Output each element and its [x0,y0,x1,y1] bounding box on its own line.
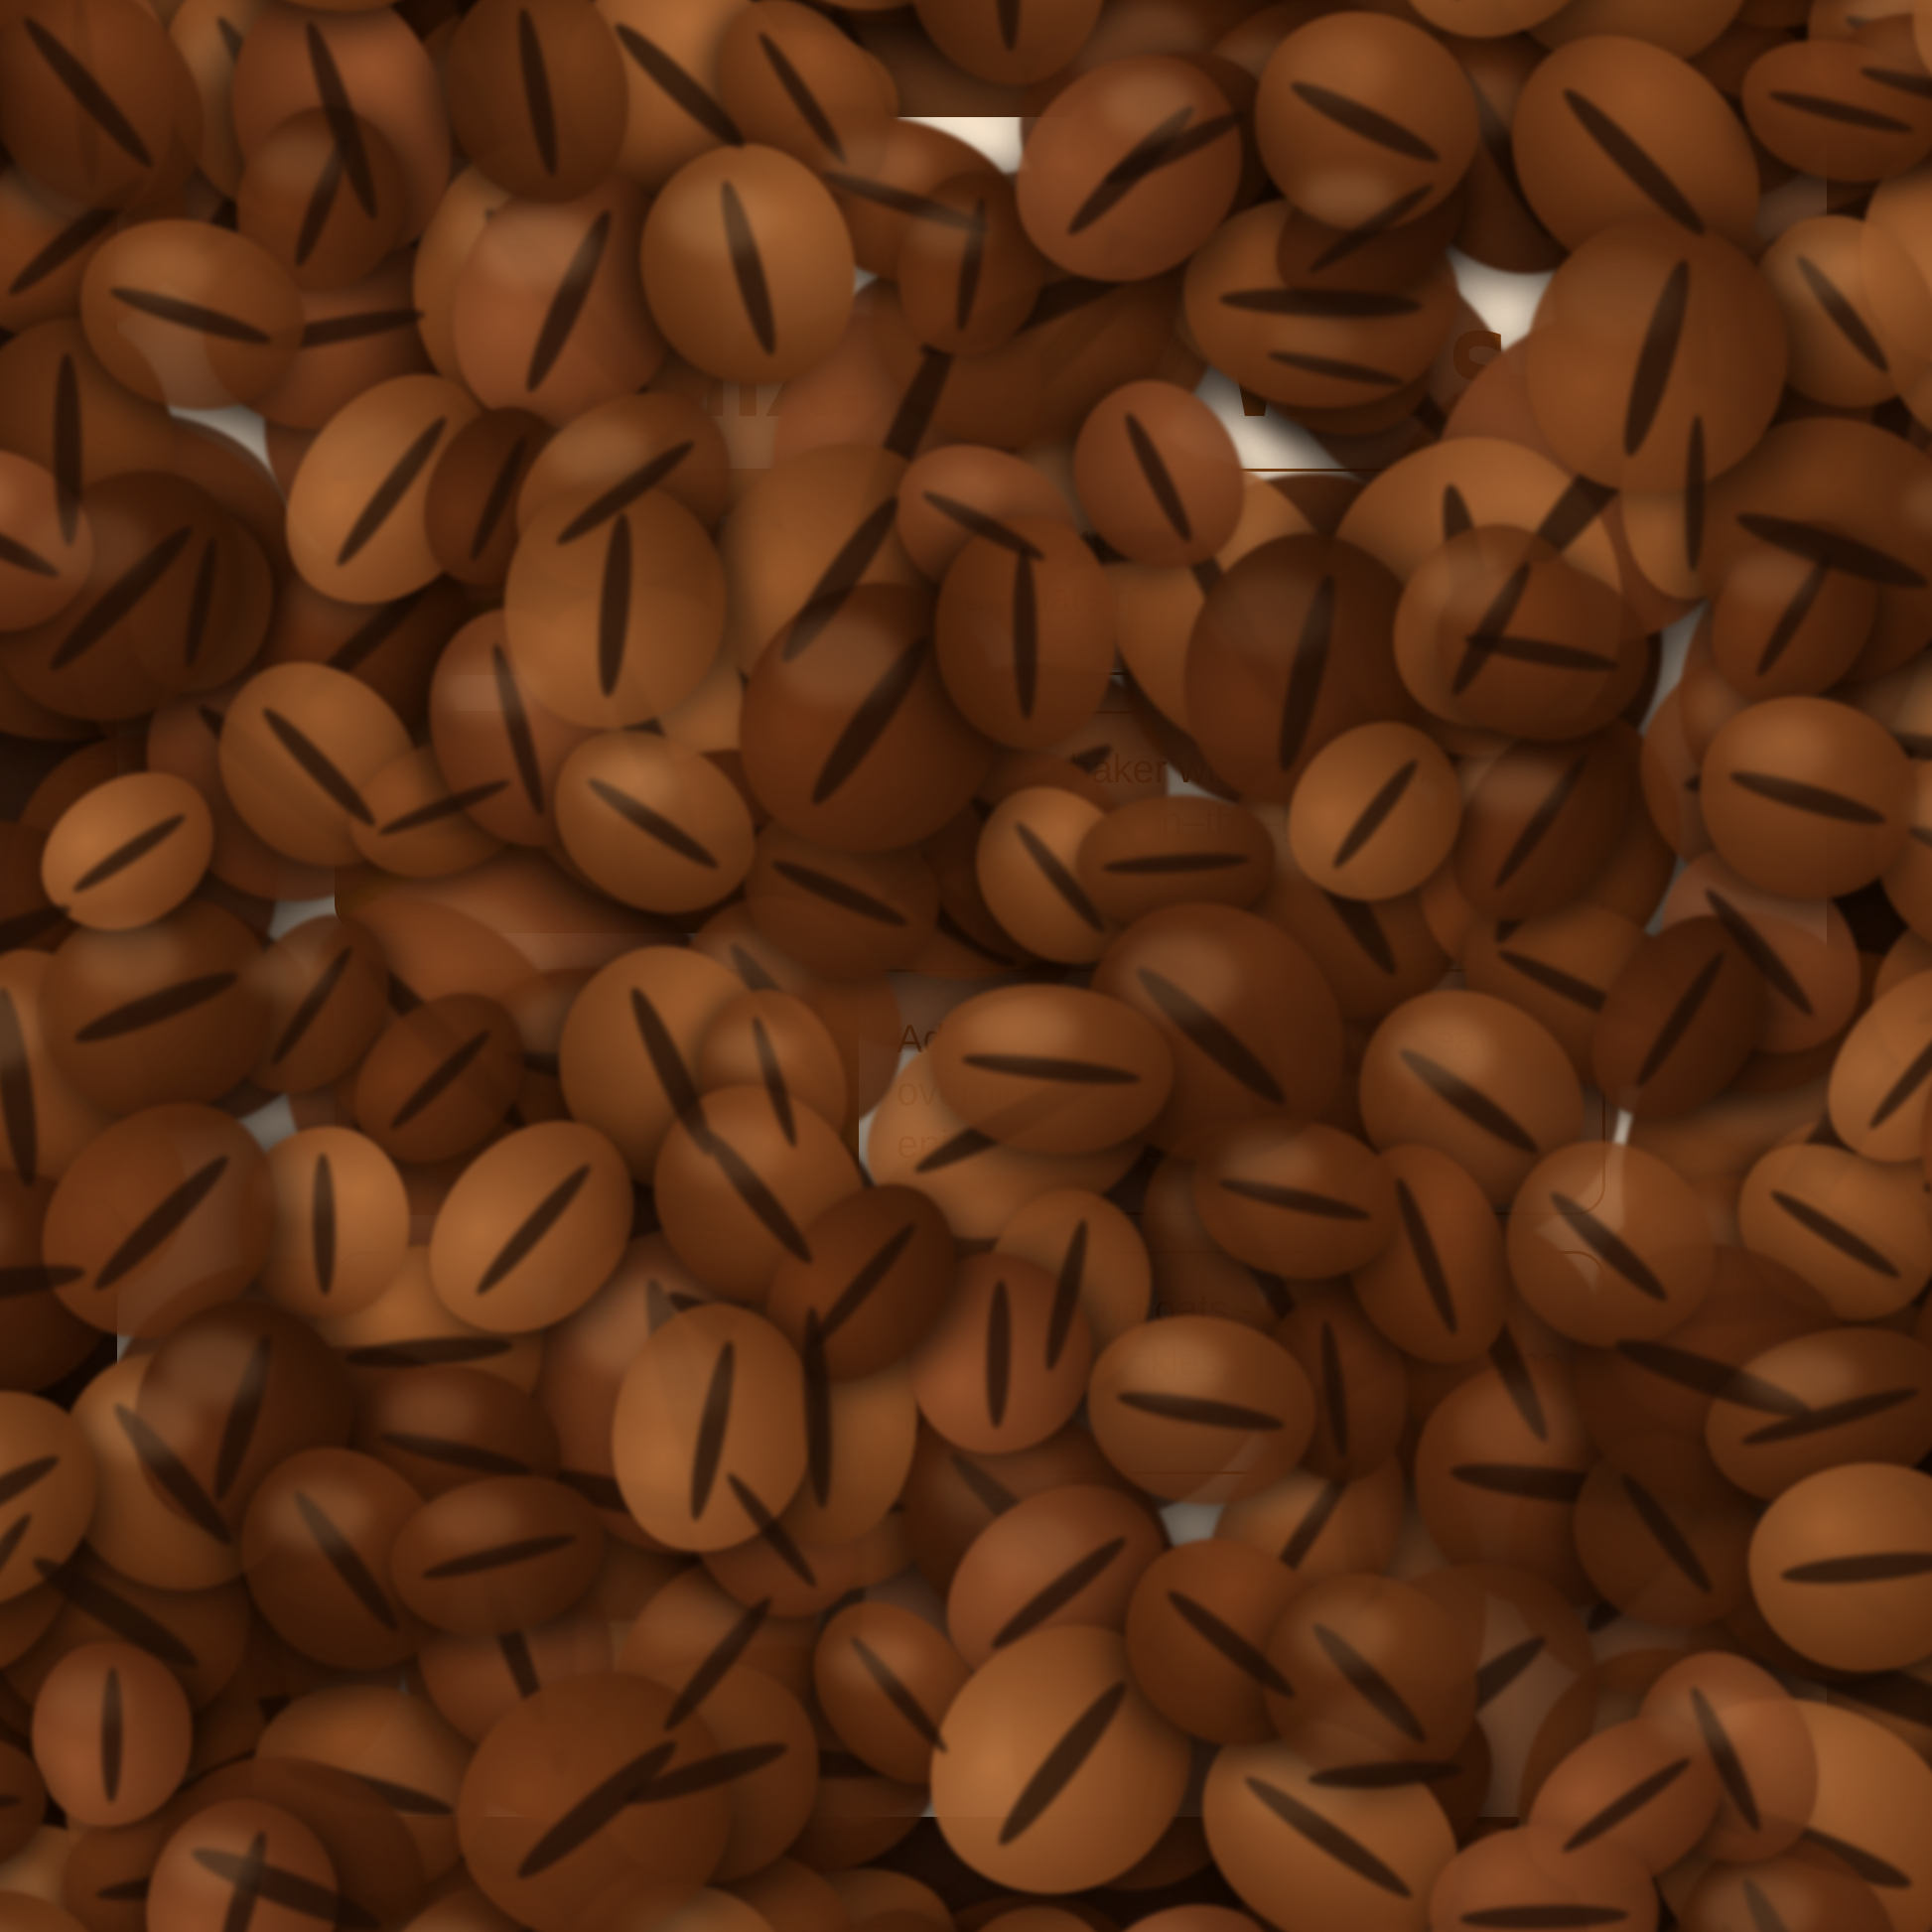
coffee-beans-background [0,0,1932,1932]
